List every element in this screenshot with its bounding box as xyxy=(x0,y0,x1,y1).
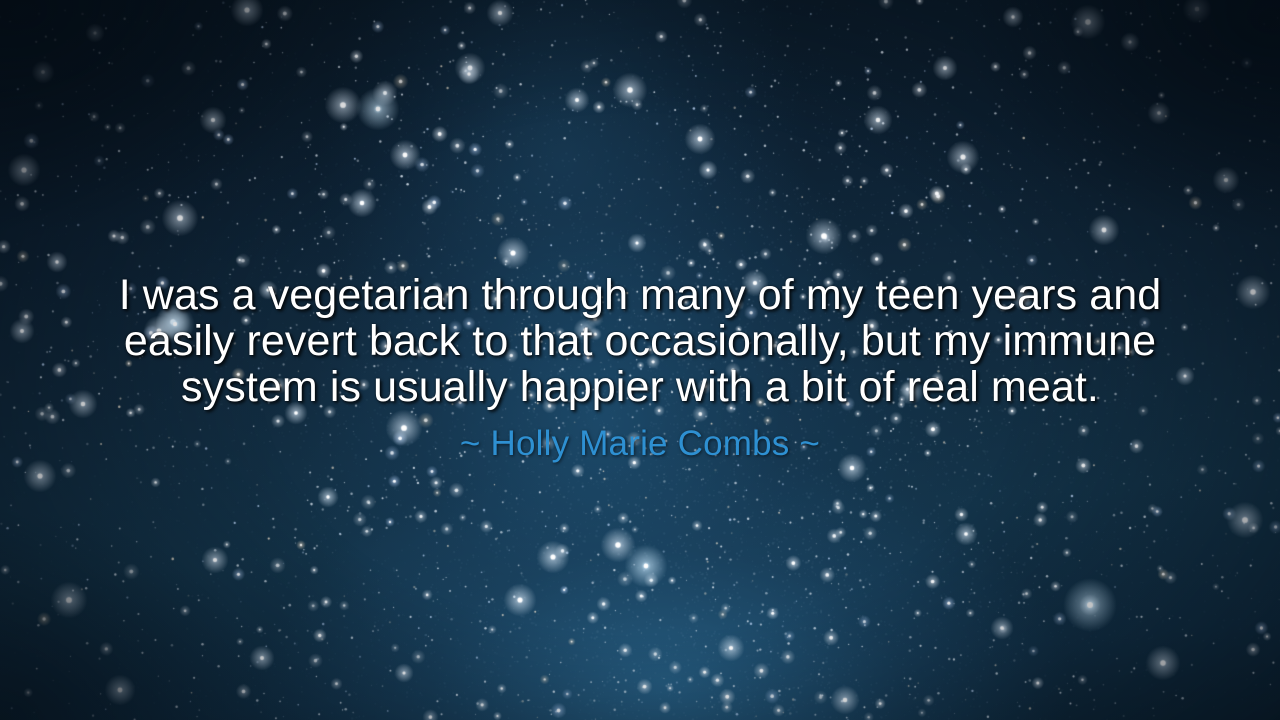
quote-text: I was a vegetarian through many of my te… xyxy=(0,272,1280,410)
quote-slide: I was a vegetarian through many of my te… xyxy=(0,0,1280,720)
quote-block: I was a vegetarian through many of my te… xyxy=(0,272,1280,464)
quote-author: ~ Holly Marie Combs ~ xyxy=(0,424,1280,464)
